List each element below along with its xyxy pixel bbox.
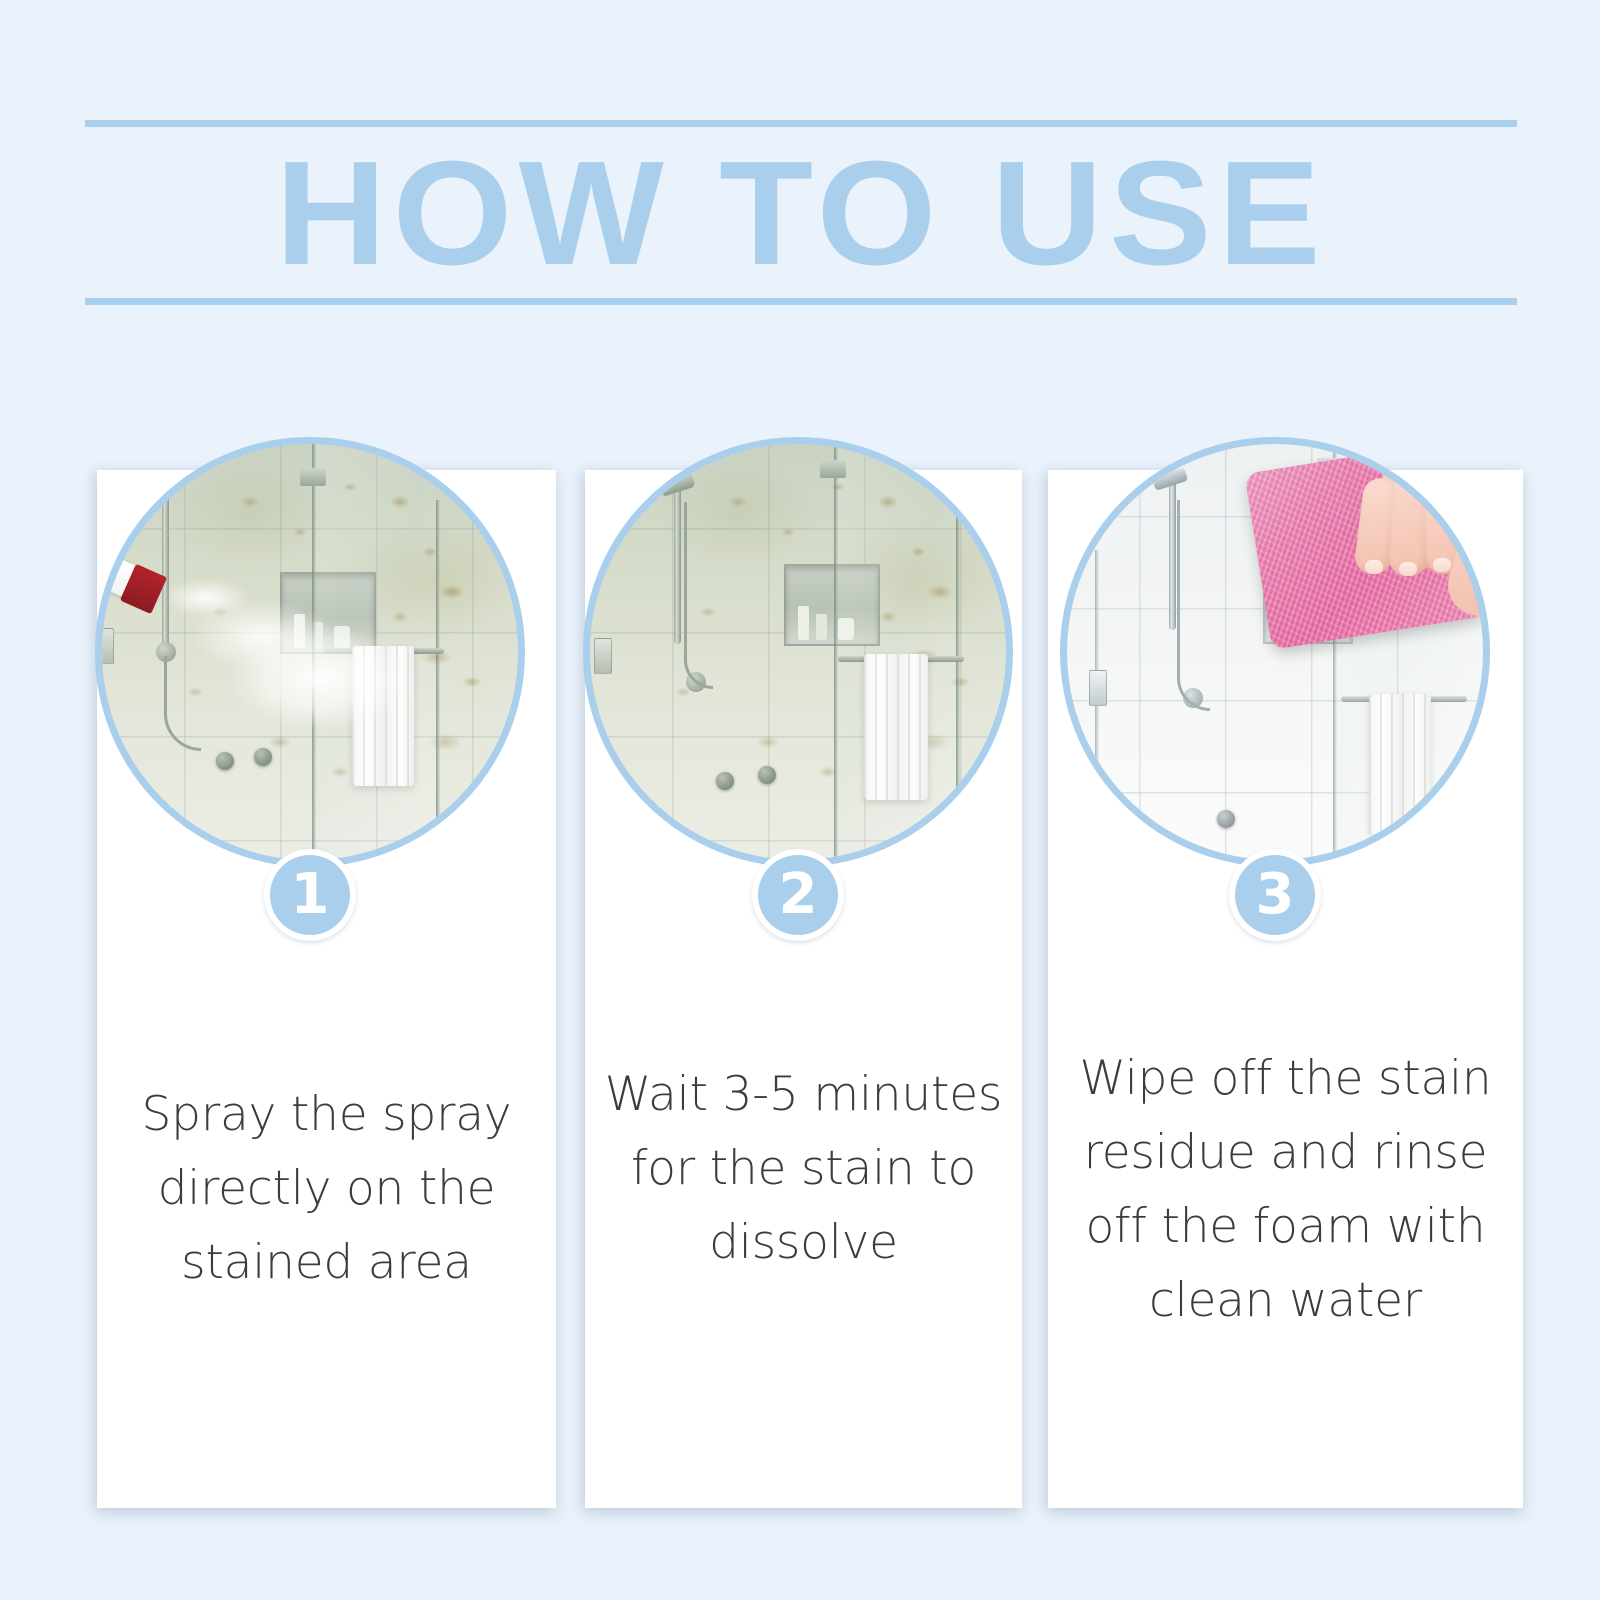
page-title: HOW TO USE	[56, 134, 1545, 294]
spray-mist-icon	[170, 570, 420, 760]
step-caption-1: Spray the spray directly on the stained …	[97, 1078, 556, 1300]
step-image-1	[95, 437, 525, 867]
header-rule-bottom	[85, 298, 1517, 305]
step-image-2	[583, 437, 1013, 867]
step-caption-3: Wipe off the stain residue and rinse off…	[1048, 1042, 1523, 1338]
step-badge-1: 1	[264, 849, 356, 941]
step-badge-3: 3	[1229, 849, 1321, 941]
step-image-3	[1060, 437, 1490, 867]
step-badge-2: 2	[752, 849, 844, 941]
hand-icon	[1333, 444, 1483, 626]
header-rule-top	[85, 120, 1517, 127]
step-caption-2: Wait 3-5 minutes for the stain to dissol…	[585, 1058, 1022, 1280]
header: HOW TO USE	[85, 120, 1517, 310]
